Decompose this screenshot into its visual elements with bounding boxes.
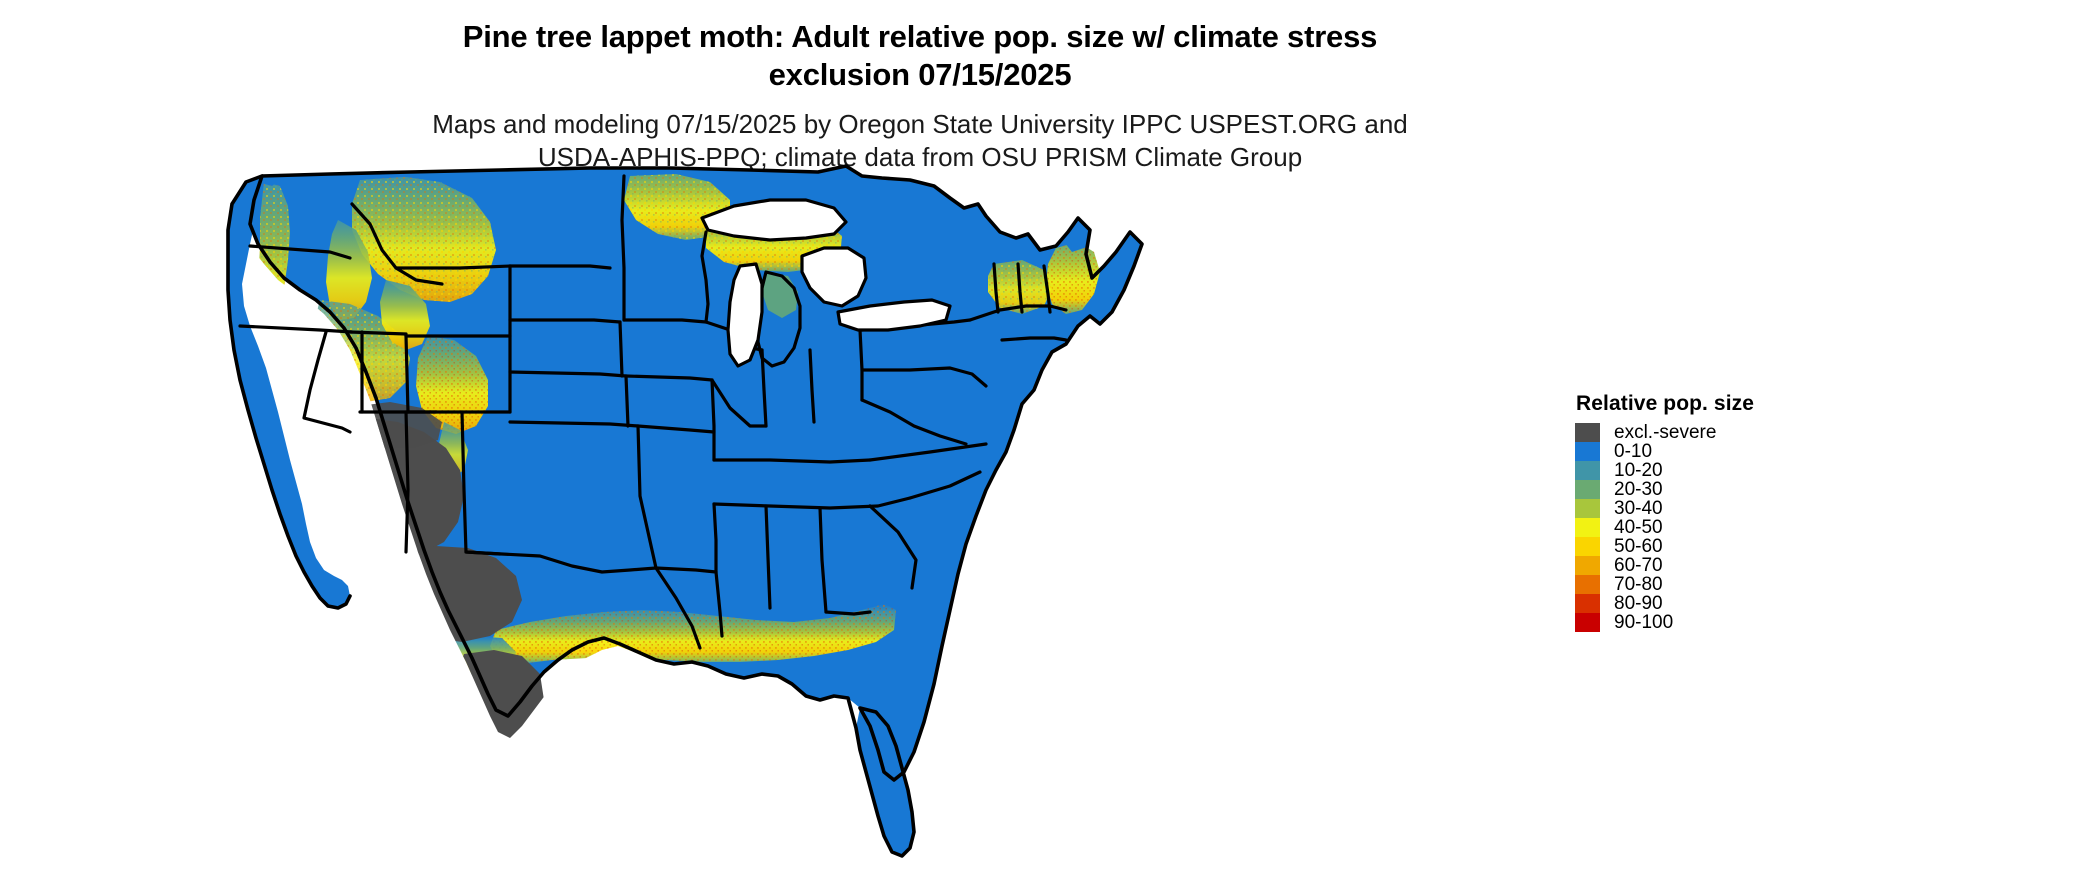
- legend-item-label: 80-90: [1614, 594, 1663, 613]
- legend-item: 70-80: [1575, 575, 1875, 594]
- legend-color-swatch: [1575, 518, 1600, 537]
- legend-item: 40-50: [1575, 518, 1875, 537]
- legend-color-swatch: [1575, 461, 1600, 480]
- legend-item-label: 50-60: [1614, 537, 1663, 556]
- legend-item-label: 10-20: [1614, 461, 1663, 480]
- legend-items: excl.-severe0-1010-2020-3030-4040-5050-6…: [1575, 423, 1875, 632]
- legend-item: 30-40: [1575, 499, 1875, 518]
- legend-item: 20-30: [1575, 480, 1875, 499]
- legend-color-swatch: [1575, 442, 1600, 461]
- title-block: Pine tree lappet moth: Adult relative po…: [0, 18, 1840, 175]
- legend-item-label: 60-70: [1614, 556, 1663, 575]
- legend-item: 50-60: [1575, 537, 1875, 556]
- legend-item-label: 40-50: [1614, 518, 1663, 537]
- legend-color-swatch: [1575, 556, 1600, 575]
- legend-item-label: 30-40: [1614, 499, 1663, 518]
- legend-item-label: excl.-severe: [1614, 423, 1716, 442]
- border-nv-ca-diagonal: [304, 332, 350, 432]
- legend-color-swatch: [1575, 594, 1600, 613]
- legend-item: 80-90: [1575, 594, 1875, 613]
- page-title: Pine tree lappet moth: Adult relative po…: [0, 18, 1840, 94]
- legend-item: excl.-severe: [1575, 423, 1875, 442]
- legend-color-swatch: [1575, 480, 1600, 499]
- border-ks-mo: [626, 376, 628, 426]
- legend-item-label: 0-10: [1614, 442, 1652, 461]
- legend-item-label: 20-30: [1614, 480, 1663, 499]
- legend-item: 60-70: [1575, 556, 1875, 575]
- legend-color-swatch: [1575, 575, 1600, 594]
- usa-choropleth-map: [210, 160, 1210, 880]
- border-ga-fl: [826, 612, 870, 614]
- legend-item: 0-10: [1575, 442, 1875, 461]
- border-or-ca: [240, 326, 352, 332]
- legend-title: Relative pop. size: [1576, 392, 1875, 416]
- legend-item-label: 70-80: [1614, 575, 1663, 594]
- legend: Relative pop. size excl.-severe0-1010-20…: [1575, 392, 1875, 632]
- legend-item-label: 90-100: [1614, 613, 1673, 632]
- border-ne-ia: [620, 322, 622, 376]
- legend-color-swatch: [1575, 537, 1600, 556]
- map-visualization-root: Pine tree lappet moth: Adult relative po…: [0, 0, 2100, 892]
- legend-item: 90-100: [1575, 613, 1875, 632]
- border-ut-co: [406, 336, 408, 412]
- legend-color-swatch: [1575, 423, 1600, 442]
- legend-color-swatch: [1575, 613, 1600, 632]
- border-az-nm: [406, 412, 408, 552]
- legend-color-swatch: [1575, 499, 1600, 518]
- legend-item: 10-20: [1575, 461, 1875, 480]
- map-canvas: [210, 160, 1210, 880]
